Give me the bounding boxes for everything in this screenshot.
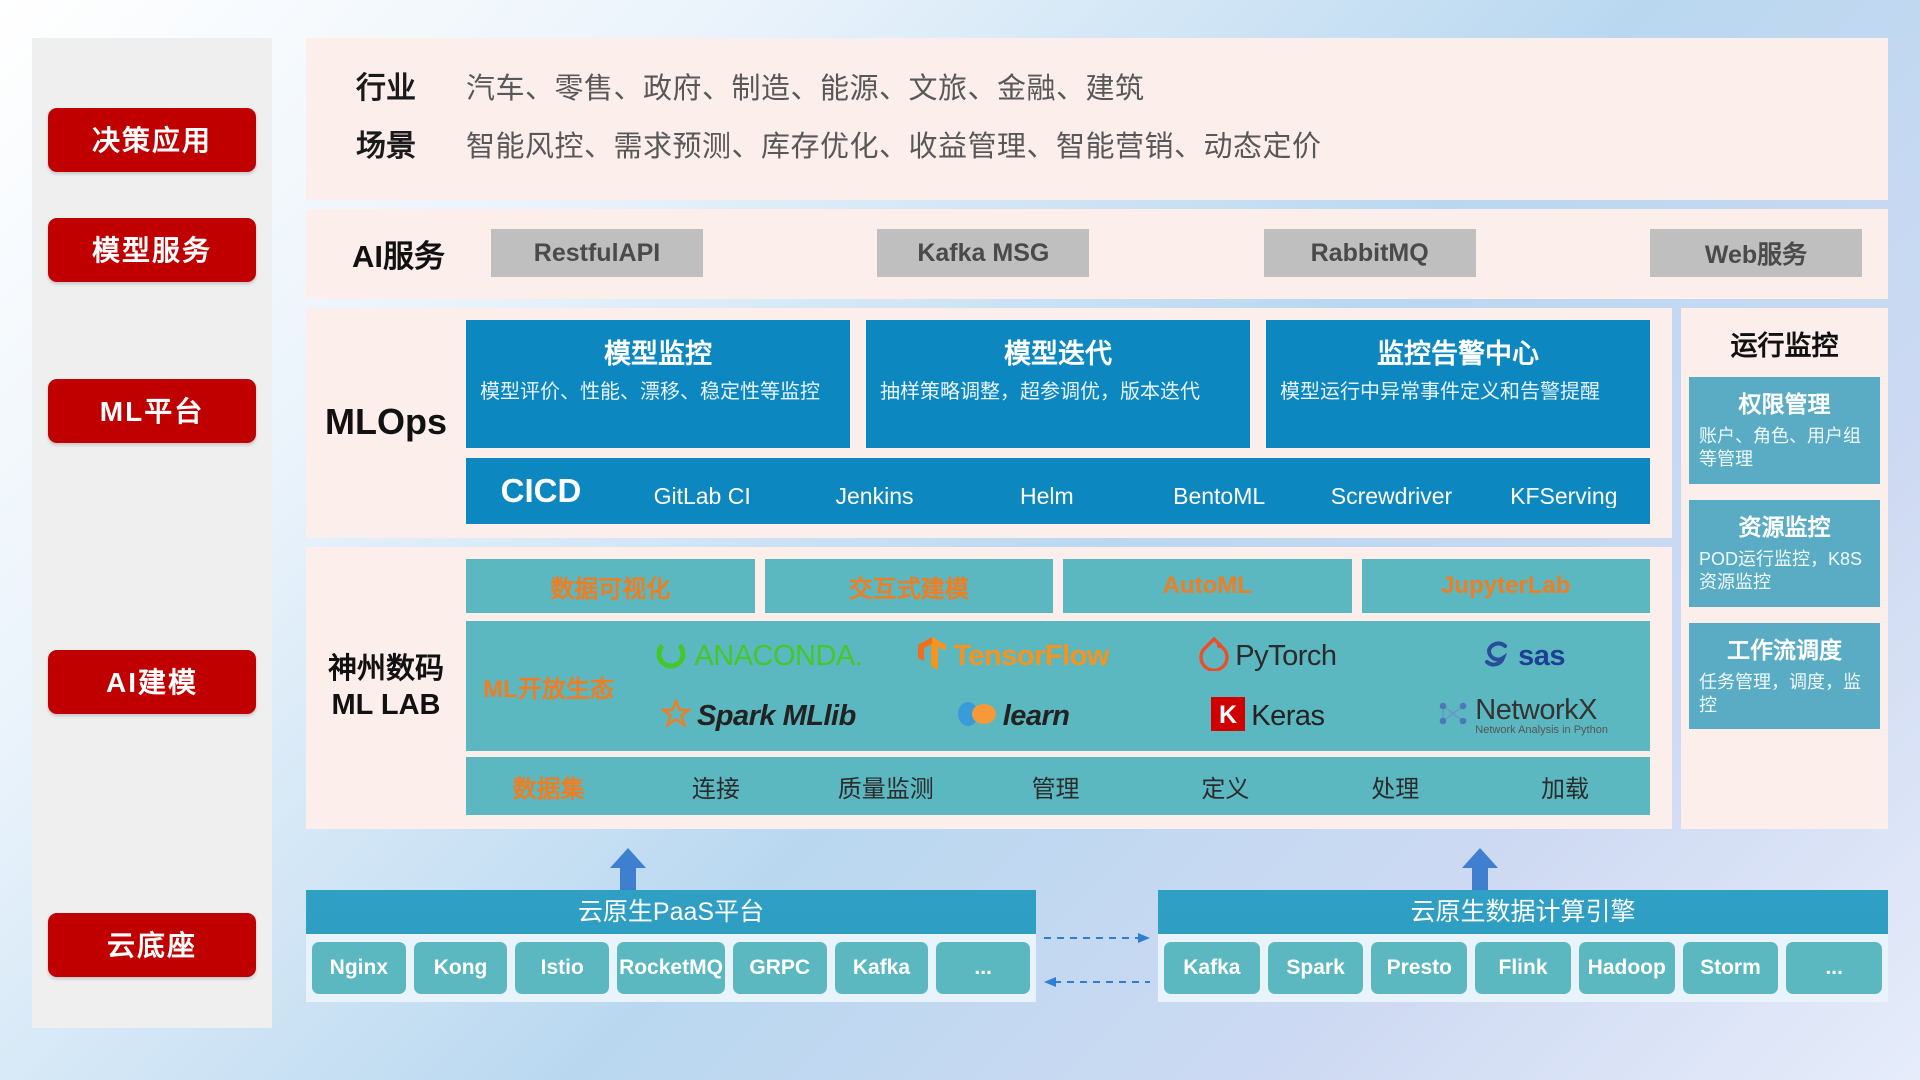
logo-sas: sas	[1395, 627, 1650, 685]
keras-icon: K	[1211, 697, 1245, 736]
sidebar-item-label: 决策应用	[48, 108, 256, 172]
mlops-band: MLOps 模型监控 模型评价、性能、漂移、稳定性等监控 模型迭代 抽样策略调整…	[306, 308, 1672, 538]
cloud-chip[interactable]: Spark	[1268, 942, 1364, 994]
cloud-chip[interactable]: Flink	[1475, 942, 1571, 994]
dataset-item-list: 连接 质量监测 管理 定义 处理 加载	[631, 769, 1650, 804]
logo-networkx: NetworkX Network Analysis in Python	[1395, 687, 1650, 745]
cloud-chip[interactable]: Nginx	[312, 942, 406, 994]
industry-label: 行业	[306, 60, 466, 118]
logo-spark-mllib: Spark MLlib	[631, 687, 886, 745]
cloud-connector-gap	[1036, 890, 1158, 1002]
pytorch-label: PyTorch	[1235, 640, 1336, 673]
anaconda-icon	[654, 637, 688, 676]
cicd-item[interactable]: KFServing	[1478, 484, 1650, 508]
cloud-paas-block: 云原生PaaS平台 Nginx Kong Istio RocketMQ GRPC…	[306, 890, 1036, 1002]
sas-label: sas	[1518, 640, 1565, 673]
dataset-item[interactable]: 管理	[971, 769, 1141, 804]
cloud-chip[interactable]: Kafka	[835, 942, 929, 994]
dataset-row: 数据集 连接 质量监测 管理 定义 处理 加载	[466, 757, 1650, 815]
cloud-chip[interactable]: ...	[936, 942, 1030, 994]
spark-star-icon	[661, 699, 691, 734]
cloud-foundation-row: 云原生PaaS平台 Nginx Kong Istio RocketMQ GRPC…	[306, 890, 1888, 1002]
cloud-compute-engine-block: 云原生数据计算引擎 Kafka Spark Presto Flink Hadoo…	[1158, 890, 1888, 1002]
sidebar-item-label: AI建模	[48, 650, 256, 714]
spark-mllib-label: Spark MLlib	[697, 700, 856, 733]
cloud-paas-chip-list: Nginx Kong Istio RocketMQ GRPC Kafka ...	[306, 934, 1036, 1002]
ai-service-chip[interactable]: RestfulAPI	[491, 229, 703, 277]
tensorflow-icon	[917, 636, 947, 677]
monitor-card-desc: POD运行监控，K8S资源监控	[1699, 548, 1870, 595]
keras-label: Keras	[1251, 700, 1324, 733]
runtime-monitor-panel: 运行监控 权限管理 账户、角色、用户组等管理 资源监控 POD运行监控，K8S资…	[1681, 308, 1888, 829]
ai-service-chip[interactable]: Kafka MSG	[877, 229, 1089, 277]
up-arrow-icon-left	[606, 848, 650, 890]
monitor-card-title: 资源监控	[1699, 508, 1870, 542]
industry-values: 汽车、零售、政府、制造、能源、文旅、金融、建筑	[466, 60, 1145, 118]
ml-lab-label-line2: ML LAB	[331, 687, 440, 723]
mlops-card[interactable]: 监控告警中心 模型运行中异常事件定义和告警提醒	[1266, 320, 1650, 448]
logo-row-1: ANACONDA.	[631, 627, 1650, 685]
ml-lab-tab-list: 数据可视化 交互式建模 AutoML JupyterLab	[466, 559, 1650, 613]
band-separator	[306, 538, 1672, 547]
sidebar-item-label: 模型服务	[48, 218, 256, 282]
logo-tensorflow: TensorFlow	[886, 627, 1141, 685]
mlops-card-desc: 模型评价、性能、漂移、稳定性等监控	[480, 379, 836, 405]
tab-jupyterlab[interactable]: JupyterLab	[1362, 559, 1651, 613]
up-arrow-icon-right	[1458, 848, 1502, 890]
monitor-card-resource[interactable]: 资源监控 POD运行监控，K8S资源监控	[1689, 500, 1880, 607]
monitor-card-workflow[interactable]: 工作流调度 任务管理，调度，监控	[1689, 623, 1880, 730]
cloud-chip[interactable]: Hadoop	[1579, 942, 1675, 994]
dataset-item[interactable]: 质量监测	[801, 769, 971, 804]
sidebar-item-model-service[interactable]: 模型服务	[48, 218, 256, 282]
cicd-item[interactable]: Screwdriver	[1305, 484, 1477, 508]
mlops-card-desc: 模型运行中异常事件定义和告警提醒	[1280, 379, 1636, 405]
monitor-card-permission[interactable]: 权限管理 账户、角色、用户组等管理	[1689, 377, 1880, 484]
monitor-card-title: 工作流调度	[1699, 631, 1870, 665]
ml-open-ecosystem: ML开放生态 ANACONDA.	[466, 621, 1650, 751]
cloud-chip[interactable]: RocketMQ	[617, 942, 725, 994]
logo-scikit-learn: learn	[886, 687, 1141, 745]
bidirectional-arrow-icon	[1036, 910, 1158, 1030]
networkx-icon	[1437, 699, 1469, 734]
mlops-card[interactable]: 模型监控 模型评价、性能、漂移、稳定性等监控	[466, 320, 850, 448]
architecture-main: 行业 汽车、零售、政府、制造、能源、文旅、金融、建筑 场景 智能风控、需求预测、…	[306, 38, 1888, 829]
ai-service-label: AI服务	[306, 231, 491, 276]
logo-anaconda: ANACONDA.	[631, 627, 886, 685]
dataset-item[interactable]: 加载	[1480, 769, 1650, 804]
runtime-monitor-title: 运行监控	[1689, 324, 1880, 363]
cloud-chip[interactable]: Presto	[1371, 942, 1467, 994]
mlops-card[interactable]: 模型迭代 抽样策略调整，超参调优，版本迭代	[866, 320, 1250, 448]
cloud-paas-title: 云原生PaaS平台	[306, 890, 1036, 934]
tab-automl[interactable]: AutoML	[1063, 559, 1352, 613]
scikit-learn-icon	[957, 699, 997, 734]
sidebar-item-ml-platform[interactable]: ML平台	[48, 379, 256, 443]
ml-lab-label-line1: 神州数码	[328, 651, 444, 687]
industry-row: 行业 汽车、零售、政府、制造、能源、文旅、金融、建筑	[306, 60, 1888, 118]
cloud-chip[interactable]: ...	[1786, 942, 1882, 994]
dataset-item[interactable]: 连接	[631, 769, 801, 804]
ml-lab-label: 神州数码 ML LAB	[306, 559, 466, 815]
ai-service-chip[interactable]: RabbitMQ	[1264, 229, 1476, 277]
ai-service-chip[interactable]: Web服务	[1650, 229, 1862, 277]
cicd-item[interactable]: GitLab CI	[616, 484, 788, 508]
sidebar-item-decision-app[interactable]: 决策应用	[48, 108, 256, 172]
svg-text:K: K	[1219, 701, 1237, 729]
cicd-title: CICD	[466, 472, 616, 510]
mlops-card-title: 模型迭代	[880, 332, 1236, 371]
sidebar-item-label: ML平台	[48, 379, 256, 443]
monitor-card-desc: 任务管理，调度，监控	[1699, 671, 1870, 718]
monitor-card-title: 权限管理	[1699, 385, 1870, 419]
networkx-sublabel: Network Analysis in Python	[1475, 725, 1608, 736]
mlops-card-list: 模型监控 模型评价、性能、漂移、稳定性等监控 模型迭代 抽样策略调整，超参调优，…	[466, 320, 1650, 448]
platform-and-monitor-row: MLOps 模型监控 模型评价、性能、漂移、稳定性等监控 模型迭代 抽样策略调整…	[306, 308, 1888, 829]
ml-lab-band: 神州数码 ML LAB 数据可视化 交互式建模 AutoML JupyterLa…	[306, 547, 1672, 829]
cicd-item[interactable]: BentoML	[1133, 484, 1305, 508]
dataset-item[interactable]: 处理	[1310, 769, 1480, 804]
monitor-card-desc: 账户、角色、用户组等管理	[1699, 425, 1870, 472]
cloud-chip[interactable]: Istio	[515, 942, 609, 994]
tab-data-visualization[interactable]: 数据可视化	[466, 559, 755, 613]
logo-keras: K Keras	[1141, 687, 1396, 745]
scikit-learn-label: learn	[1003, 700, 1070, 733]
pytorch-icon	[1199, 637, 1229, 676]
cloud-compute-chip-list: Kafka Spark Presto Flink Hadoop Storm ..…	[1158, 934, 1888, 1002]
cloud-chip[interactable]: Kafka	[1164, 942, 1260, 994]
sas-icon	[1480, 638, 1512, 675]
dataset-item[interactable]: 定义	[1140, 769, 1310, 804]
cicd-item-list: GitLab CI Jenkins Helm BentoML Screwdriv…	[616, 474, 1650, 508]
cicd-item[interactable]: Helm	[961, 484, 1133, 508]
logo-pytorch: PyTorch	[1141, 627, 1396, 685]
tab-interactive-modeling[interactable]: 交互式建模	[765, 559, 1054, 613]
networkx-label: NetworkX	[1475, 696, 1608, 725]
cicd-item[interactable]: Jenkins	[788, 484, 960, 508]
ml-open-ecosystem-label: ML开放生态	[466, 627, 631, 745]
sidebar-item-ai-modeling[interactable]: AI建模	[48, 650, 256, 714]
sidebar-item-label: 云底座	[48, 913, 256, 977]
dataset-label: 数据集	[466, 769, 631, 804]
tensorflow-label: TensorFlow	[953, 640, 1109, 673]
scenario-values: 智能风控、需求预测、库存优化、收益管理、智能营销、动态定价	[466, 118, 1322, 176]
mlops-card-title: 模型监控	[480, 332, 836, 371]
logo-row-2: Spark MLlib learn	[631, 687, 1650, 745]
mlops-card-desc: 抽样策略调整，超参调优，版本迭代	[880, 379, 1236, 405]
mlops-label: MLOps	[306, 320, 466, 524]
scenario-row: 场景 智能风控、需求预测、库存优化、收益管理、智能营销、动态定价	[306, 118, 1888, 176]
scenario-label: 场景	[306, 118, 466, 176]
ai-service-band: AI服务 RestfulAPI Kafka MSG RabbitMQ Web服务	[306, 209, 1888, 299]
anaconda-label: ANACONDA.	[694, 640, 862, 673]
cloud-compute-title: 云原生数据计算引擎	[1158, 890, 1888, 934]
cicd-bar: CICD GitLab CI Jenkins Helm BentoML Scre…	[466, 458, 1650, 524]
cloud-chip[interactable]: Storm	[1683, 942, 1779, 994]
cloud-chip[interactable]: Kong	[414, 942, 508, 994]
stack-layer-sidebar: 决策应用 模型服务 ML平台 AI建模 云底座	[32, 38, 272, 1028]
mlops-card-title: 监控告警中心	[1280, 332, 1636, 371]
sidebar-item-cloud-base[interactable]: 云底座	[48, 913, 256, 977]
ai-service-chip-list: RestfulAPI Kafka MSG RabbitMQ Web服务	[491, 229, 1888, 277]
industry-scenario-band: 行业 汽车、零售、政府、制造、能源、文旅、金融、建筑 场景 智能风控、需求预测、…	[306, 38, 1888, 200]
cloud-chip[interactable]: GRPC	[733, 942, 827, 994]
